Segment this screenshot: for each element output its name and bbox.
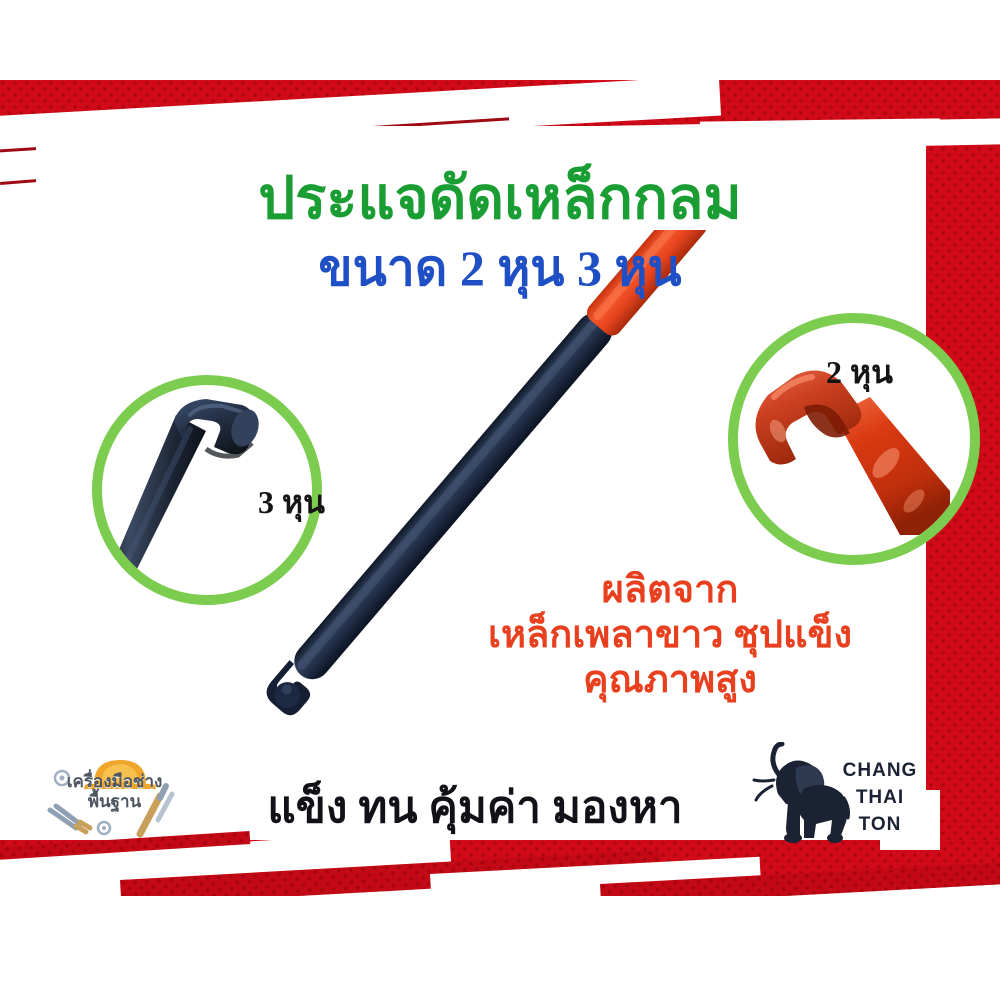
brand-name-line-1: CHANG — [834, 758, 926, 785]
callout-label-right: 2 หุน — [826, 347, 893, 398]
brand-logo-left-line-2: พื้นฐาน — [32, 792, 197, 812]
feature-copy-line-3: คุณภาพสูง — [455, 658, 885, 703]
brand-logo-left-text: เครื่องมือช่าง พื้นฐาน — [32, 772, 197, 811]
page-subtitle: ขนาด 2 หุน 3 หุน — [0, 243, 1000, 293]
brand-logo-right: CHANG THAI TON — [752, 742, 924, 846]
feature-copy-block: ผลิตจาก เหล็กเพลาขาว ชุปแข็ง คุณภาพสูง — [455, 568, 885, 702]
brand-logo-left: เครื่องมือช่าง พื้นฐาน — [32, 748, 197, 843]
brand-name-line-2: THAI — [834, 785, 926, 812]
brand-logo-right-text: CHANG THAI TON — [834, 758, 926, 839]
brand-name-line-3: TON — [834, 812, 926, 839]
feature-copy-line-1: ผลิตจาก — [455, 568, 885, 613]
tagline: แข็ง ทน คุ้มค่า มองหา — [185, 772, 765, 842]
brush-stroke-right-1 — [700, 118, 940, 143]
feature-copy-line-2: เหล็กเพลาขาว ชุปแข็ง — [455, 613, 885, 658]
brush-stroke-bottom-3 — [0, 896, 1000, 1000]
page-title: ประแจดัดเหล็กกลม — [0, 170, 1000, 228]
brand-logo-left-line-1: เครื่องมือช่าง — [32, 772, 197, 792]
callout-label-left: 3 หุน — [258, 477, 325, 528]
product-poster: 3 หุน — [0, 0, 1000, 1000]
